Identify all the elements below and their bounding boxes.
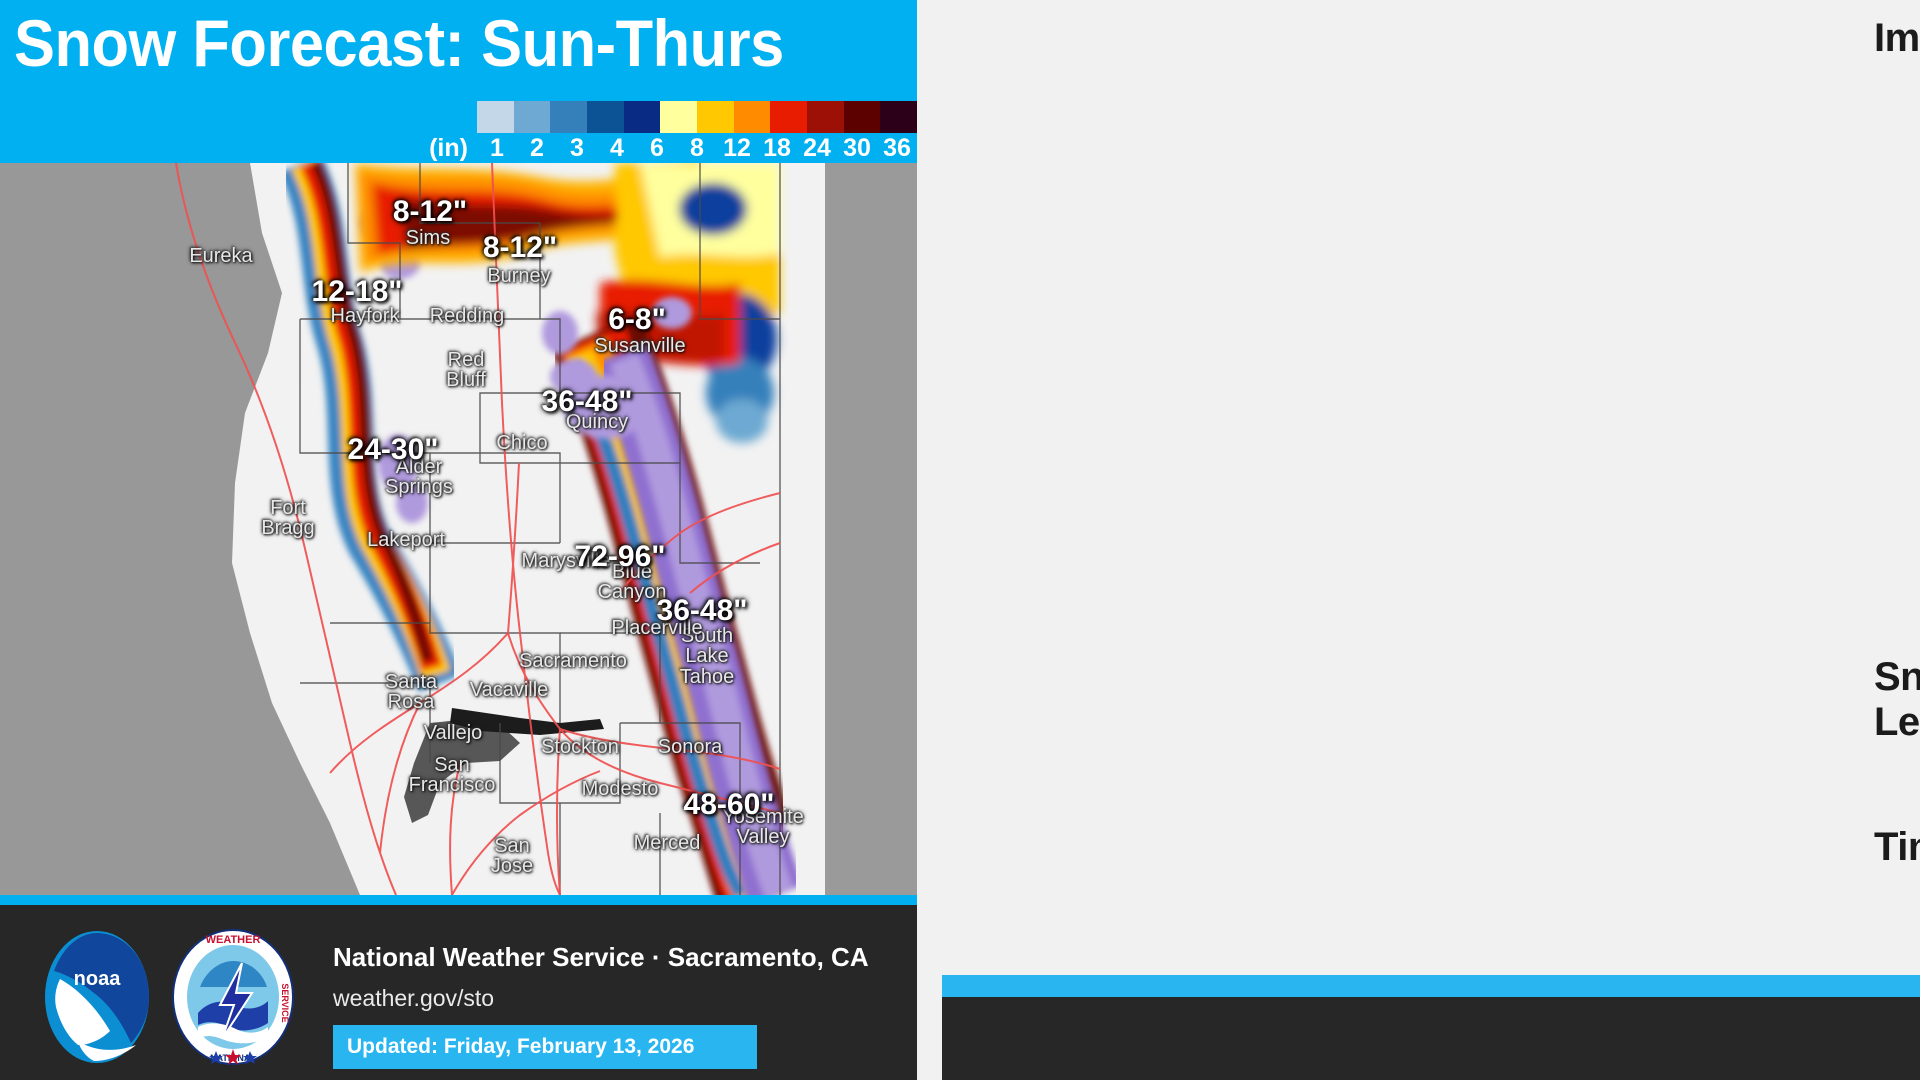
map-city-label: Sims [406, 228, 450, 248]
legend-swatch-4 [624, 101, 661, 133]
legend-tick-24: 24 [797, 134, 837, 163]
legend-tick-12: 12 [717, 134, 757, 163]
map-city-label: Vacaville [470, 680, 549, 700]
map-city-label: Susanville [594, 336, 685, 356]
map-city-label: San Francisco [409, 755, 496, 796]
map-snow-amount-label: 8-12" [393, 195, 467, 229]
map-city-label: Lakeport [367, 530, 445, 550]
svg-text:SERVICE: SERVICE [280, 983, 290, 1022]
right-accent-strip [942, 975, 1920, 997]
legend-swatch-7 [734, 101, 771, 133]
map-snow-amount-label: 48-60" [684, 788, 775, 822]
map-city-label: Red Bluff [446, 350, 486, 391]
map-snow-amount-label: 24-30" [348, 433, 439, 467]
map-city-label: Sacramento [519, 651, 627, 671]
legend-swatch-9 [807, 101, 844, 133]
updated-badge: Updated: Friday, February 13, 2026 [333, 1025, 757, 1069]
impact-heading: Impact [1874, 16, 1920, 61]
map-city-label: Stockton [541, 737, 619, 757]
map-city-label: Chico [496, 433, 547, 453]
snow-forecast-map[interactable]: EurekaSimsBurneyHayforkReddingSusanville… [0, 163, 917, 895]
map-city-label: Eureka [189, 246, 252, 266]
map-city-label: Redding [430, 306, 505, 326]
map-city-label: Hayfork [331, 306, 400, 326]
left-panel: Snow Forecast: Sun-Thurs (in)12346812182… [0, 0, 917, 895]
map-city-label: Vallejo [424, 723, 483, 743]
noaa-logo: noaa [38, 927, 156, 1067]
legend-swatch-2 [550, 101, 587, 133]
svg-text:WEATHER: WEATHER [206, 934, 261, 946]
legend-swatch-10 [844, 101, 881, 133]
legend-tick-18: 18 [757, 134, 797, 163]
map-city-label: Burney [487, 266, 550, 286]
map-snow-amount-label: 8-12" [483, 231, 557, 265]
map-snow-amount-label: 6-8" [608, 303, 666, 337]
page-title: Snow Forecast: Sun-Thurs [14, 5, 784, 81]
legend-swatch-8 [770, 101, 807, 133]
footer-website-url[interactable]: weather.gov/sto [333, 985, 494, 1012]
map-snow-amount-label: 12-18" [312, 275, 403, 309]
snowfall-legend-labels: (in)1234681218243036 [420, 134, 917, 162]
map-city-label: Merced [634, 833, 701, 853]
legend-tick-6: 6 [637, 134, 677, 163]
snow-levels-heading: Snow Levels [1874, 655, 1920, 745]
legend-tick-30: 30 [837, 134, 877, 163]
legend-swatch-11 [880, 101, 917, 133]
infographic-root: Snow Forecast: Sun-Thurs (in)12346812182… [0, 0, 1920, 1080]
timing-heading: Timing [1874, 825, 1920, 870]
legend-tick-8: 8 [677, 134, 717, 163]
legend-tick-2: 2 [517, 134, 557, 163]
footer: noaa WEATHER NATIONAL SERVICE [0, 895, 917, 1080]
right-footer-bar [942, 997, 1920, 1080]
map-snow-amount-label: 36-48" [657, 594, 748, 628]
legend-tick-36: 36 [877, 134, 917, 163]
nws-logo: WEATHER NATIONAL SERVICE [168, 927, 298, 1067]
legend-tick-3: 3 [557, 134, 597, 163]
legend-swatch-3 [587, 101, 624, 133]
map-snow-amount-label: 72-96" [575, 540, 666, 574]
map-city-label: Modesto [582, 779, 659, 799]
footer-accent-strip [0, 895, 917, 905]
svg-text:noaa: noaa [74, 968, 122, 990]
legend-tick-1: 1 [477, 134, 517, 163]
legend-swatch-0 [477, 101, 514, 133]
legend-unit-label: (in) [420, 134, 477, 163]
legend-tick-4: 4 [597, 134, 637, 163]
legend-swatch-6 [697, 101, 734, 133]
map-city-label: San Jose [491, 836, 533, 877]
map-city-label: Fort Bragg [261, 498, 314, 539]
map-snow-amount-label: 36-48" [542, 385, 633, 419]
legend-swatch-5 [660, 101, 697, 133]
legend-swatch-1 [514, 101, 551, 133]
map-city-label: Santa Rosa [385, 672, 437, 713]
right-panel: Impact NoneMinorModerateMajorExtreme [917, 0, 1920, 975]
map-city-label: Sonora [658, 737, 723, 757]
snowfall-color-legend [477, 101, 917, 133]
footer-office-name: National Weather Service · Sacramento, C… [333, 942, 869, 973]
